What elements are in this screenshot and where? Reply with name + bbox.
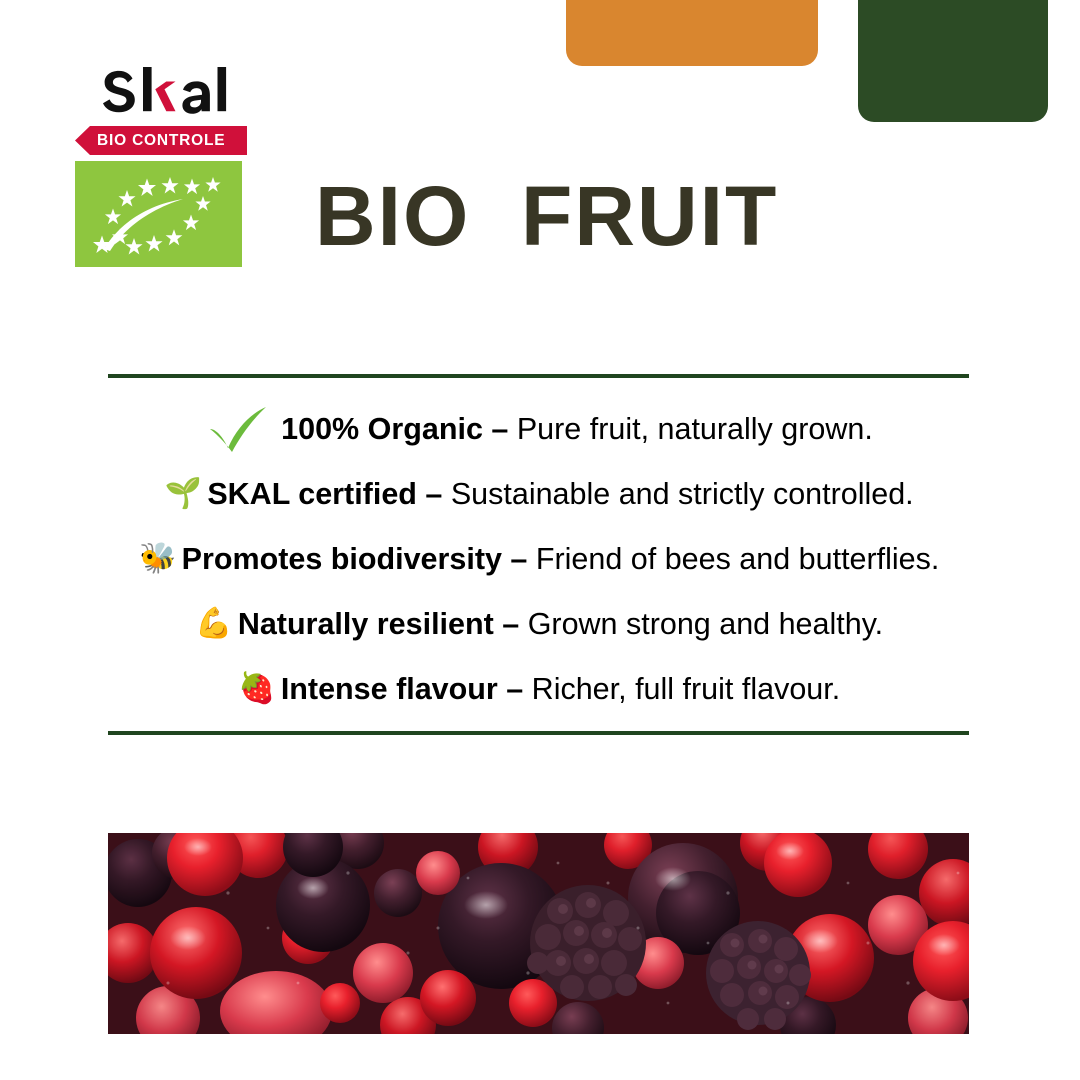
divider-bottom <box>108 731 969 735</box>
feature-lead: 100% Organic – <box>281 412 517 446</box>
feature-lead: Intense flavour – <box>281 672 532 706</box>
mixed-frozen-berries-photo <box>108 833 969 1034</box>
feature-list: 100% Organic – Pure fruit, naturally gro… <box>0 396 1080 721</box>
eu-organic-leaf-icon <box>75 161 242 267</box>
skal-logo: BIO CONTROLE <box>75 64 325 267</box>
feature-lead: Naturally resilient – <box>238 607 528 641</box>
feature-text: Naturally resilient – Grown strong and h… <box>238 606 883 642</box>
bio-controle-label: BIO CONTROLE <box>97 126 241 155</box>
divider-top <box>108 374 969 378</box>
feature-lead: Promotes biodiversity – <box>182 542 536 576</box>
feature-text: Promotes biodiversity – Friend of bees a… <box>182 541 940 577</box>
feature-item-skal-certified: 🌱 SKAL certified – Sustainable and stric… <box>0 461 1080 526</box>
feature-text: SKAL certified – Sustainable and strictl… <box>207 476 913 512</box>
strawberry-icon: 🍓 <box>240 674 274 704</box>
feature-item-flavour: 🍓 Intense flavour – Richer, full fruit f… <box>0 656 1080 721</box>
feature-item-organic: 100% Organic – Pure fruit, naturally gro… <box>0 396 1080 461</box>
page-title: BIO FRUIT <box>315 166 778 266</box>
feature-rest: Friend of bees and butterflies. <box>536 542 940 576</box>
feature-lead: SKAL certified – <box>207 477 451 511</box>
feature-item-biodiversity: 🐝 Promotes biodiversity – Friend of bees… <box>0 526 1080 591</box>
orange-accent-block <box>566 0 818 66</box>
feature-rest: Pure fruit, naturally grown. <box>517 412 873 446</box>
check-mark-icon <box>207 405 269 453</box>
feature-rest: Sustainable and strictly controlled. <box>451 477 914 511</box>
green-accent-block <box>858 0 1048 122</box>
feature-text: Intense flavour – Richer, full fruit fla… <box>281 671 840 707</box>
bee-icon: 🐝 <box>141 544 175 574</box>
skal-wordmark <box>103 64 325 122</box>
feature-rest: Grown strong and healthy. <box>528 607 883 641</box>
feature-item-resilient: 💪 Naturally resilient – Grown strong and… <box>0 591 1080 656</box>
feature-text: 100% Organic – Pure fruit, naturally gro… <box>281 411 873 447</box>
feature-rest: Richer, full fruit flavour. <box>532 672 841 706</box>
seedling-icon: 🌱 <box>166 479 200 509</box>
flexed-biceps-icon: 💪 <box>197 609 231 639</box>
bio-controle-banner: BIO CONTROLE <box>75 126 247 155</box>
